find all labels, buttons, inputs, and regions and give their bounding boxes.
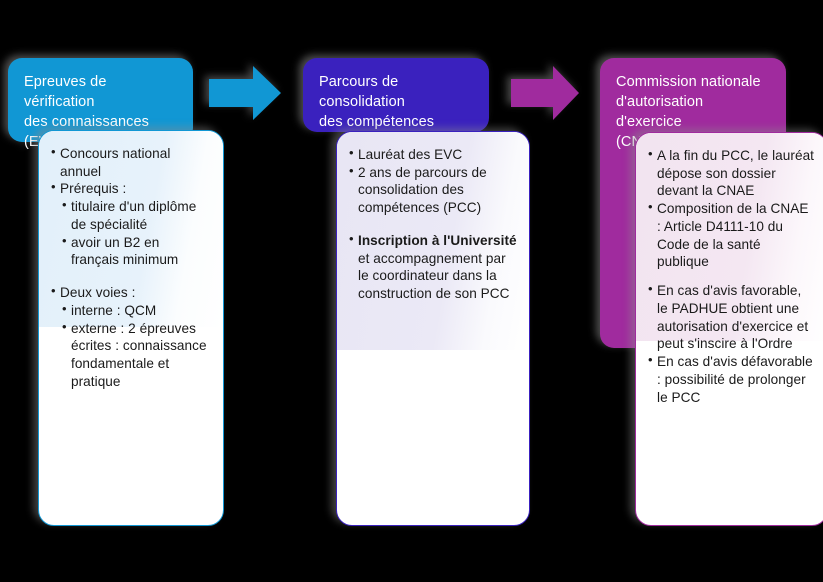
arrow-right-shape <box>209 66 281 120</box>
list-item: Concours national annuel <box>51 145 211 180</box>
arrow-right-shape <box>511 66 579 120</box>
arrow-evc-to-pcc-icon <box>209 66 281 120</box>
arrow-pcc-to-cnae-icon <box>511 66 579 120</box>
list-item: En cas d'avis défavorable : possibilité … <box>648 353 815 406</box>
content-card-pcc: Lauréat des EVC 2 ans de parcours de con… <box>336 131 530 526</box>
column-header-pcc: Parcours de consolidation des compétence… <box>303 58 489 132</box>
list-item: Deux voies : <box>51 284 211 302</box>
list-item: Prérequis : <box>51 180 211 198</box>
column-header-pcc-title: Parcours de consolidation des compétence… <box>319 72 473 132</box>
content-card-cnae: A la fin du PCC, le lauréat dépose son d… <box>635 132 823 526</box>
content-card-evc-body: Concours national annuel Prérequis : tit… <box>39 131 223 391</box>
list-item: interne : QCM <box>62 302 211 320</box>
bullet-list-pcc: Lauréat des EVC 2 ans de parcours de con… <box>349 146 517 303</box>
diagram-canvas: Epreuves de vérification des connaissanc… <box>0 0 823 582</box>
list-item: 2 ans de parcours de consolidation des c… <box>349 164 517 217</box>
bullet-list-cnae: A la fin du PCC, le lauréat dépose son d… <box>648 147 815 406</box>
content-card-pcc-body: Lauréat des EVC 2 ans de parcours de con… <box>337 132 529 303</box>
list-item: titulaire d'un diplôme de spécialité <box>62 198 211 233</box>
list-item: Lauréat des EVC <box>349 146 517 164</box>
content-card-evc: Concours national annuel Prérequis : tit… <box>38 130 224 526</box>
list-item: Inscription à l'Université et accompagne… <box>349 232 517 303</box>
list-item: avoir un B2 en français minimum <box>62 234 211 269</box>
list-item: En cas d'avis favorable, le PADHUE obtie… <box>648 282 815 353</box>
content-card-cnae-body: A la fin du PCC, le lauréat dépose son d… <box>636 133 823 406</box>
list-item: Composition de la CNAE : Article D4111-1… <box>648 200 815 271</box>
list-item: A la fin du PCC, le lauréat dépose son d… <box>648 147 815 200</box>
list-item: externe : 2 épreuves écrites : connaissa… <box>62 320 211 391</box>
list-item-bold-prefix: Inscription à l'Université <box>358 233 517 248</box>
bullet-list-evc: Concours national annuel Prérequis : tit… <box>51 145 211 391</box>
